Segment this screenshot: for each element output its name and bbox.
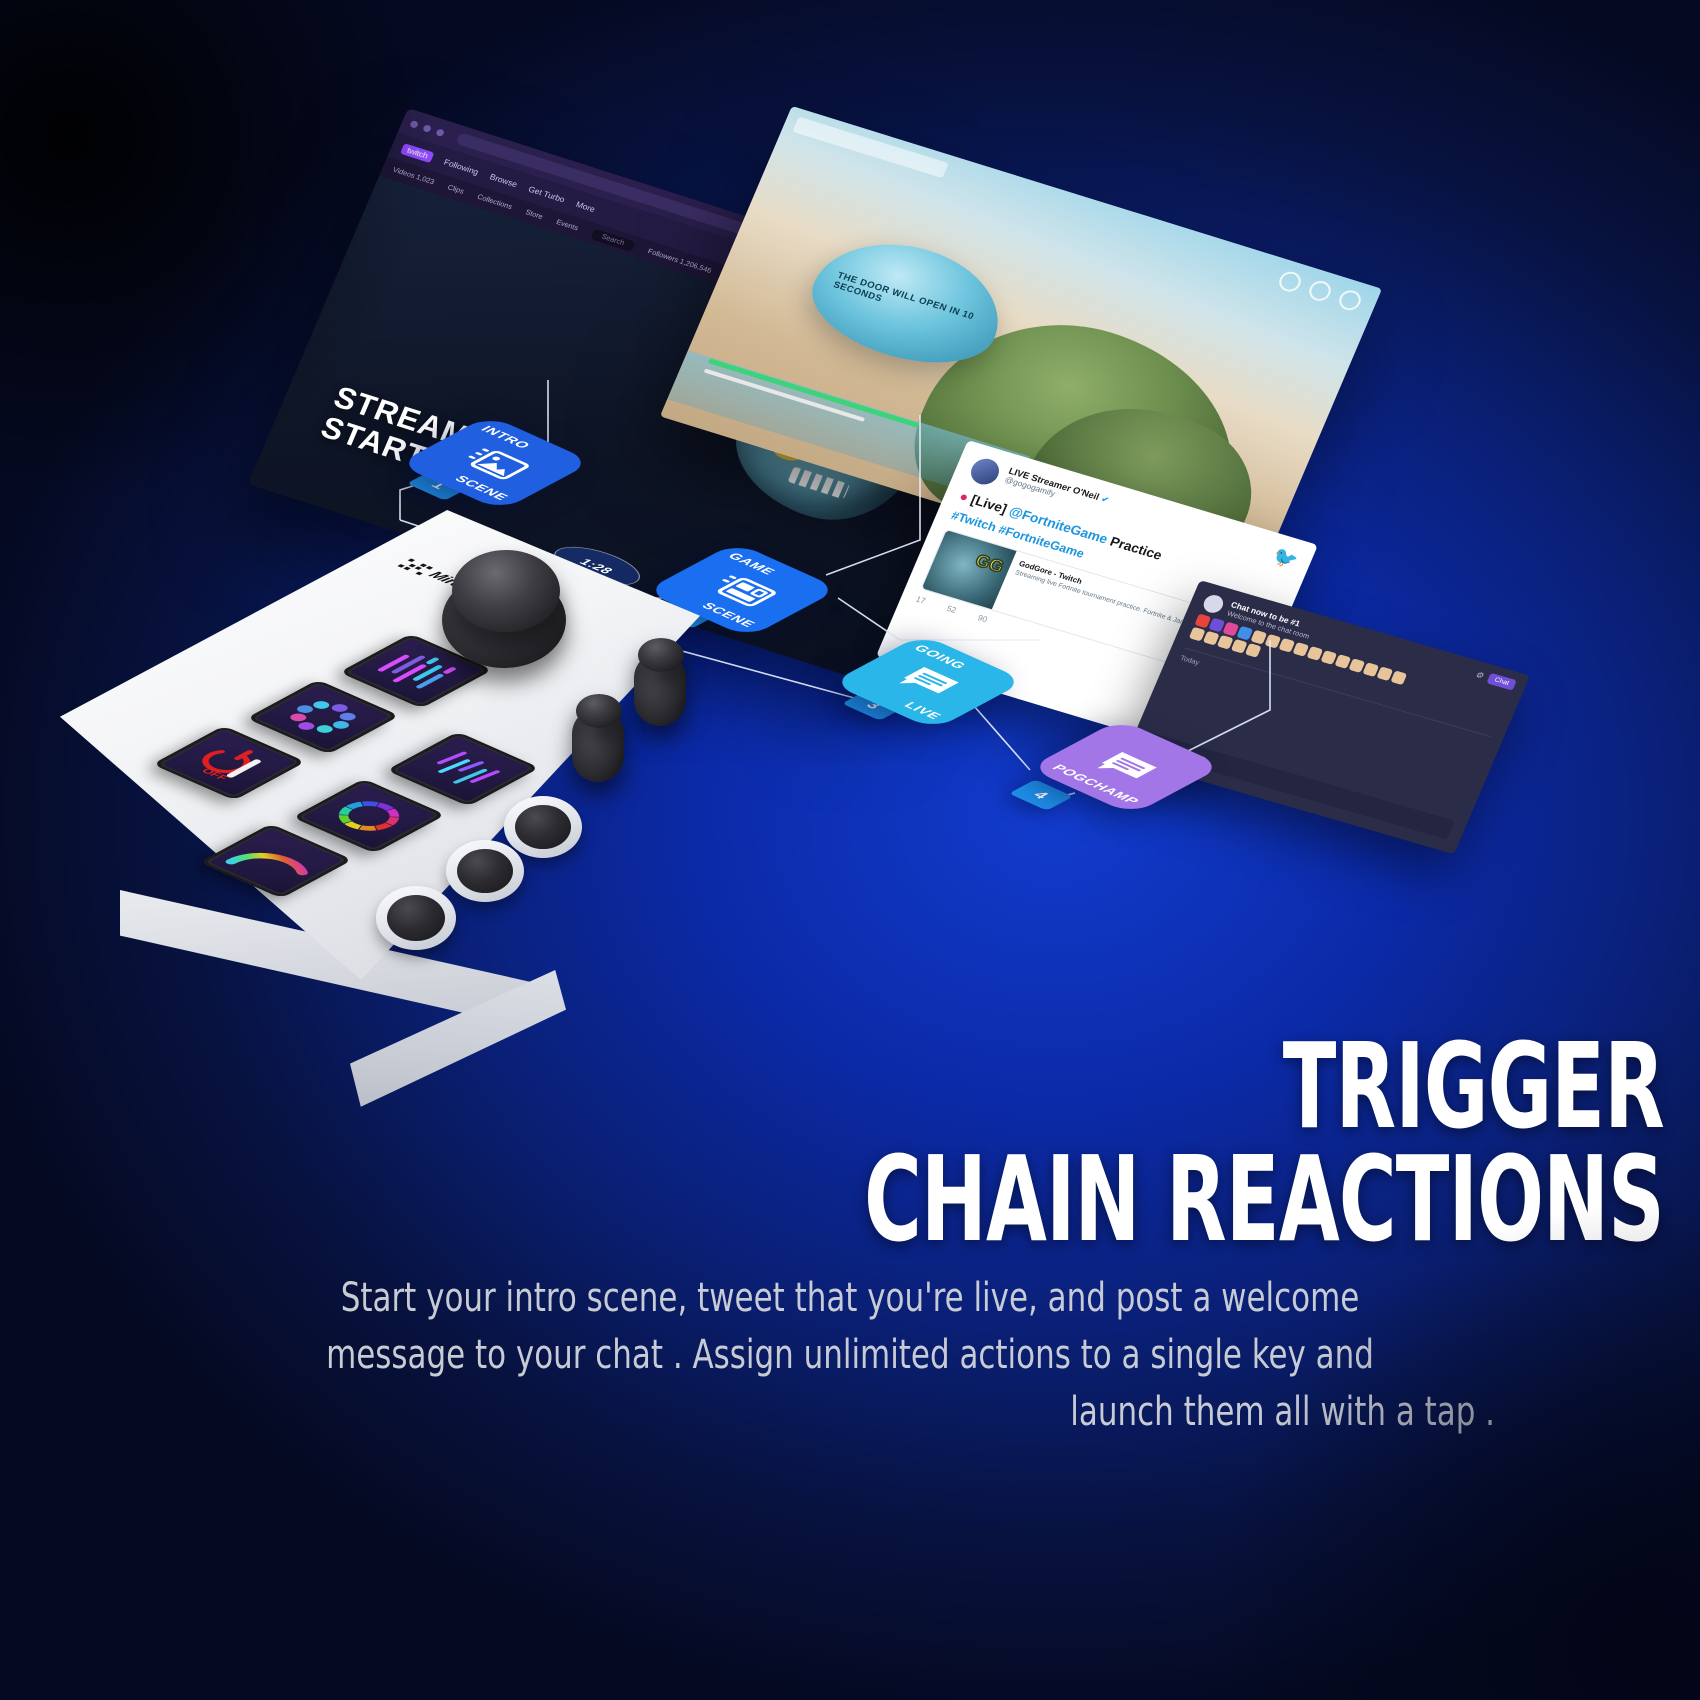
twitch-nav-item[interactable]: Browse bbox=[489, 172, 519, 189]
action-button-1[interactable] bbox=[376, 886, 456, 950]
mirabox-stream-controller[interactable]: MiraBox® OFF bbox=[60, 510, 780, 1100]
twitch-nav-item[interactable]: More bbox=[575, 199, 597, 213]
button-cap bbox=[457, 849, 513, 894]
browser-dot bbox=[422, 124, 432, 133]
twitch-nav-item[interactable]: Get Turbo bbox=[527, 184, 566, 204]
secondary-stick-a-cap[interactable] bbox=[576, 694, 622, 728]
avatar bbox=[1201, 593, 1226, 615]
secondary-stick-b-cap[interactable] bbox=[638, 638, 684, 672]
emoji[interactable] bbox=[1245, 643, 1262, 658]
browser-dot bbox=[409, 119, 419, 128]
tab-store[interactable]: Store bbox=[524, 209, 544, 221]
button-cap bbox=[515, 805, 571, 850]
action-button-3[interactable] bbox=[504, 796, 582, 858]
promo-canvas: twitch Following Browse Get Turbo More V… bbox=[0, 0, 1700, 1700]
emoji[interactable] bbox=[1390, 670, 1407, 685]
subcopy-line-2: message to your chat . Assign unlimited … bbox=[205, 1327, 1495, 1384]
main-joystick-cap[interactable] bbox=[452, 550, 560, 632]
gear-icon[interactable]: ⚙ bbox=[1474, 670, 1485, 681]
twitch-logo[interactable]: twitch bbox=[400, 143, 435, 163]
tab-clips[interactable]: Clips bbox=[447, 184, 465, 196]
subcopy: Start your intro scene, tweet that you'r… bbox=[205, 1270, 1495, 1440]
card-badge: GG bbox=[972, 550, 1006, 577]
reply-count[interactable]: 17 bbox=[915, 594, 928, 605]
headline-line-2: CHAIN REACTIONS bbox=[613, 1143, 1664, 1256]
game-banner-text: THE DOOR WILL OPEN IN 10 SECONDS bbox=[832, 270, 1002, 339]
tab-events[interactable]: Events bbox=[555, 218, 579, 231]
retweet-count[interactable]: 52 bbox=[945, 603, 958, 614]
verified-badge-icon: ✔ bbox=[1100, 494, 1110, 504]
avatar bbox=[967, 455, 1003, 487]
headline: TRIGGER CHAIN REACTIONS bbox=[244, 1030, 1664, 1257]
svg-text:OFF: OFF bbox=[198, 767, 230, 782]
twitch-nav-item[interactable]: Following bbox=[443, 157, 480, 176]
button-cap bbox=[387, 895, 445, 941]
chat-panel[interactable]: ⚙ Chat Chat now to be #1 Welcome to the … bbox=[1124, 580, 1530, 854]
subcopy-line-3: launch them all with a tap . bbox=[205, 1384, 1495, 1441]
browser-dot bbox=[435, 128, 445, 137]
subcopy-line-1: Start your intro scene, tweet that you'r… bbox=[205, 1270, 1495, 1327]
headline-line-1: TRIGGER bbox=[613, 1030, 1664, 1143]
chat-input[interactable]: Send a message bbox=[1141, 732, 1455, 840]
flow-node-label-bottom: LIVE bbox=[901, 700, 945, 721]
action-button-2[interactable] bbox=[446, 840, 524, 902]
like-count[interactable]: 90 bbox=[976, 613, 989, 624]
